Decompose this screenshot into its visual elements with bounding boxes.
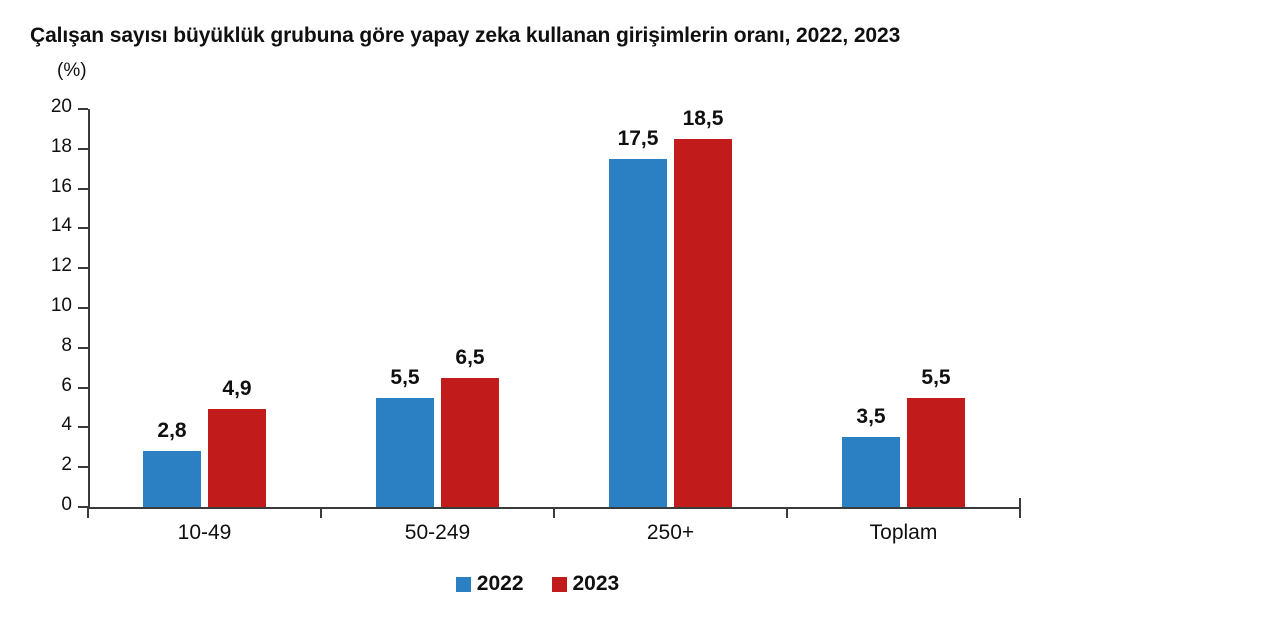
y-axis-tick-label: 16 [32, 176, 72, 198]
y-axis-line [88, 109, 90, 509]
bar-2022-10-49[interactable] [143, 451, 201, 507]
y-axis-tick-label: 6 [32, 375, 72, 397]
bar-value-label: 3,5 [826, 405, 916, 429]
y-axis-tick-label: 12 [32, 255, 72, 277]
bar-value-label: 5,5 [891, 366, 981, 390]
bar-2023-250+[interactable] [674, 139, 732, 507]
y-axis-tick [78, 148, 88, 150]
legend-swatch-icon [552, 577, 567, 592]
x-axis-tick [786, 508, 788, 518]
y-axis-tick-label: 14 [32, 215, 72, 237]
x-axis-tick [553, 508, 555, 518]
y-axis-tick-label: 18 [32, 136, 72, 158]
x-axis-category-label: 250+ [581, 521, 761, 545]
bar-value-label: 4,9 [192, 377, 282, 401]
bar-value-label: 18,5 [658, 107, 748, 131]
y-axis-tick-label: 8 [32, 335, 72, 357]
y-axis-tick [78, 347, 88, 349]
y-axis-tick-label: 20 [32, 96, 72, 118]
legend-label: 2022 [477, 572, 524, 596]
y-axis-tick-label: 10 [32, 295, 72, 317]
y-axis-tick-label: 4 [32, 414, 72, 436]
x-axis-category-label: 50-249 [348, 521, 528, 545]
chart-legend: 20222023 [0, 572, 1075, 596]
x-axis-tick [1019, 508, 1021, 518]
bar-2022-50-249[interactable] [376, 398, 434, 507]
y-axis-tick [78, 466, 88, 468]
x-axis-category-label: 10-49 [115, 521, 295, 545]
bar-value-label: 2,8 [127, 419, 217, 443]
x-axis-category-label: Toplam [814, 521, 994, 545]
bar-2023-50-249[interactable] [441, 378, 499, 507]
y-axis-tick [78, 227, 88, 229]
legend-label: 2023 [573, 572, 620, 596]
y-axis-tick-label: 2 [32, 454, 72, 476]
chart-plot-area: 20181614121086420 2,84,95,56,517,518,53,… [0, 0, 1280, 640]
bar-value-label: 6,5 [425, 346, 515, 370]
y-axis-tick [78, 387, 88, 389]
bar-2022-Toplam[interactable] [842, 437, 900, 507]
legend-item-2023[interactable]: 2023 [552, 572, 620, 596]
y-axis-tick-label: 0 [32, 494, 72, 516]
y-axis-tick [78, 426, 88, 428]
y-axis-tick [78, 307, 88, 309]
y-axis-tick [78, 267, 88, 269]
bar-2022-250+[interactable] [609, 159, 667, 507]
y-axis-tick [78, 108, 88, 110]
legend-swatch-icon [456, 577, 471, 592]
x-axis-tick [87, 508, 89, 518]
x-axis-tick [320, 508, 322, 518]
legend-item-2022[interactable]: 2022 [456, 572, 524, 596]
y-axis-tick [78, 188, 88, 190]
